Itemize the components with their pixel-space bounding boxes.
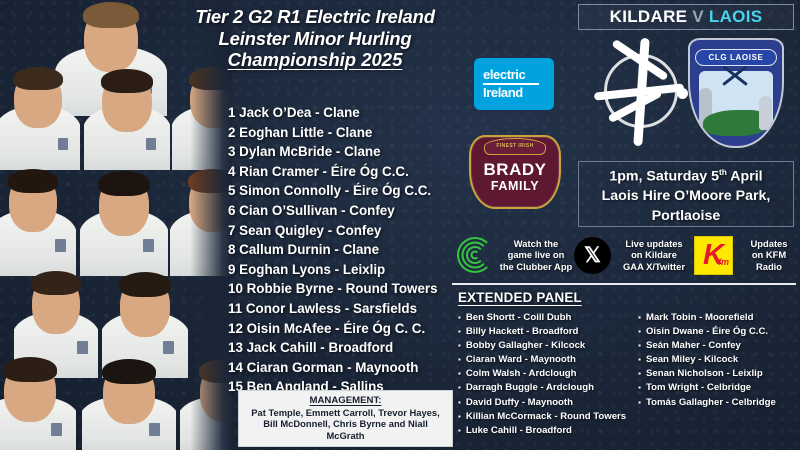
panel-item: Seán Maher - Confey bbox=[638, 339, 798, 353]
player-photo bbox=[82, 352, 176, 450]
panel-item: Ciaran Ward - Maynooth bbox=[458, 353, 626, 367]
broadcast-line-1: Watch the bbox=[498, 238, 574, 249]
panel-item: Ben Shortt - Coill Dubh bbox=[458, 311, 626, 325]
panel-item: Sean Miley - Kilcock bbox=[638, 353, 798, 367]
player-photo bbox=[0, 160, 76, 276]
venue-line-1: Laois Hire O’Moore Park, bbox=[579, 186, 793, 206]
home-team-name: KILDARE bbox=[610, 7, 688, 27]
panel-item: Billy Hackett - Broadford bbox=[458, 325, 626, 339]
lineup-item: 9 Eoghan Lyons - Leixlip bbox=[228, 260, 480, 280]
lineup-item: 8 Callum Durnin - Clane bbox=[228, 240, 480, 260]
electric-ireland-line-2: Ireland bbox=[483, 86, 554, 100]
lineup-item: 6 Cian O’Sullivan - Confey bbox=[228, 201, 480, 221]
lineup-item: 7 Sean Quigley - Confey bbox=[228, 221, 480, 241]
lineup-item: 3 Dylan McBride - Clane bbox=[228, 142, 480, 162]
lineup-item: 14 Ciaran Gorman - Maynooth bbox=[228, 358, 480, 378]
broadcast-line-2: on Kildare bbox=[615, 249, 693, 260]
versus-label: V bbox=[692, 7, 704, 27]
extended-panel-heading: EXTENDED PANEL bbox=[458, 290, 798, 305]
management-box: MANAGEMENT: Pat Temple, Emmett Carroll, … bbox=[238, 390, 453, 447]
panel-item: Darragh Buggle - Ardclough bbox=[458, 381, 626, 395]
fixture-header: KILDARE V LAOIS bbox=[578, 4, 794, 30]
broadcast-line-3: GAA X/Twitter bbox=[615, 261, 693, 272]
management-names: Pat Temple, Emmett Carroll, Trevor Hayes… bbox=[244, 407, 447, 442]
lineup-item: 4 Rian Cramer - Éire Óg C.C. bbox=[228, 162, 480, 182]
panel-item: Tomás Gallagher - Celbridge bbox=[638, 396, 798, 410]
lineup-item: 13 Jack Cahill - Broadford bbox=[228, 338, 480, 358]
fixture-time: 1pm, Saturday 5th April bbox=[579, 162, 793, 187]
crest-row: CLG LAOISE bbox=[578, 34, 794, 154]
broadcast-text: Live updates on Kildare GAA X/Twitter bbox=[615, 238, 693, 272]
panel-item: Bobby Gallagher - Kilcock bbox=[458, 339, 626, 353]
extended-panel-right-column: Mark Tobin - Moorefield Oisin Dwane - Éi… bbox=[638, 311, 798, 438]
panel-item: Senan Nicholson - Leixlip bbox=[638, 367, 798, 381]
lineup-item: 2 Eoghan Little - Clane bbox=[228, 123, 480, 143]
clubber-app-icon bbox=[456, 235, 494, 275]
panel-item: Tom Wright - Celbridge bbox=[638, 381, 798, 395]
broadcast-line-3: Radio bbox=[738, 261, 800, 272]
laois-crest-banner-text: CLG LAOISE bbox=[695, 49, 778, 66]
broadcast-item-clubber[interactable]: Watch the game live on the Clubber App bbox=[456, 235, 574, 275]
panel-item: Mark Tobin - Moorefield bbox=[638, 311, 798, 325]
broadcast-item-x-twitter[interactable]: 𝕏 Live updates on Kildare GAA X/Twitter bbox=[574, 237, 694, 274]
starting-lineup-list: 1 Jack O’Dea - Clane 2 Eoghan Little - C… bbox=[228, 103, 480, 397]
title-line-2: Leinster Minor Hurling bbox=[150, 28, 480, 50]
player-photo bbox=[80, 160, 168, 276]
lineup-item: 10 Robbie Byrne - Round Towers bbox=[228, 279, 480, 299]
panel-item: Killian McCormack - Round Towers bbox=[458, 410, 626, 424]
panel-item: Oisin Dwane - Éire Óg C.C. bbox=[638, 325, 798, 339]
lineup-item: 11 Conor Lawless - Sarsfields bbox=[228, 299, 480, 319]
title-line-3: Championship 2025 bbox=[150, 49, 480, 71]
lineup-item: 1 Jack O’Dea - Clane bbox=[228, 103, 480, 123]
kfm-radio-icon: Kfm bbox=[694, 236, 733, 275]
away-team-name: LAOIS bbox=[709, 7, 762, 27]
panel-item: David Duffy - Maynooth bbox=[458, 396, 626, 410]
panel-item: Colm Walsh - Ardclough bbox=[458, 367, 626, 381]
extended-panel: EXTENDED PANEL Ben Shortt - Coill Dubh B… bbox=[458, 290, 798, 438]
fixture-time-main: 1pm, Saturday 5 bbox=[609, 168, 719, 184]
title-line-1: Tier 2 G2 R1 Electric Ireland bbox=[150, 6, 480, 28]
broadcast-line-1: Updates bbox=[738, 238, 800, 249]
fixture-time-month: April bbox=[727, 168, 763, 184]
lineup-item: 12 Oisin McAfee - Éire Óg C. C. bbox=[228, 319, 480, 339]
player-photo bbox=[0, 352, 76, 450]
electric-ireland-logo: electric Ireland bbox=[474, 58, 554, 110]
brady-line-1: BRADY bbox=[484, 161, 547, 179]
extended-panel-left-column: Ben Shortt - Coill Dubh Billy Hackett - … bbox=[458, 311, 626, 438]
player-photo bbox=[0, 58, 80, 170]
lineup-item: 5 Simon Connolly - Éire Óg C.C. bbox=[228, 181, 480, 201]
x-twitter-icon: 𝕏 bbox=[574, 237, 611, 274]
graphic-canvas: Tier 2 G2 R1 Electric Ireland Leinster M… bbox=[0, 0, 800, 450]
electric-ireland-line-1: electric bbox=[483, 68, 554, 82]
broadcast-item-kfm[interactable]: Kfm Updates on KFM Radio bbox=[694, 236, 800, 275]
broadcast-text: Updates on KFM Radio bbox=[738, 238, 800, 272]
broadcast-line-2: on KFM bbox=[738, 249, 800, 260]
broadcast-line-1: Live updates bbox=[615, 238, 693, 249]
brady-line-2: FAMILY bbox=[491, 179, 539, 193]
date-ordinal-suffix: th bbox=[719, 167, 727, 177]
brady-top-banner: FINEST IRISH bbox=[484, 138, 546, 155]
page-title: Tier 2 G2 R1 Electric Ireland Leinster M… bbox=[150, 6, 480, 71]
broadcast-strip: Watch the game live on the Clubber App 𝕏… bbox=[456, 231, 800, 279]
venue-box: 1pm, Saturday 5th April Laois Hire O’Moo… bbox=[578, 161, 794, 227]
broadcast-line-3: the Clubber App bbox=[498, 261, 574, 272]
panel-item: Luke Cahill - Broadford bbox=[458, 424, 626, 438]
laois-gaa-crest-icon: CLG LAOISE bbox=[688, 38, 784, 148]
player-photo bbox=[84, 58, 170, 170]
broadcast-line-2: game live on bbox=[498, 249, 574, 260]
brady-family-logo: BRADY FAMILY FINEST IRISH bbox=[469, 135, 561, 209]
management-heading: MANAGEMENT: bbox=[244, 395, 447, 407]
broadcast-text: Watch the game live on the Clubber App bbox=[498, 238, 574, 272]
section-divider bbox=[452, 283, 796, 285]
kildare-gaa-crest-icon bbox=[590, 36, 690, 152]
venue-line-2: Portlaoise bbox=[579, 206, 793, 226]
